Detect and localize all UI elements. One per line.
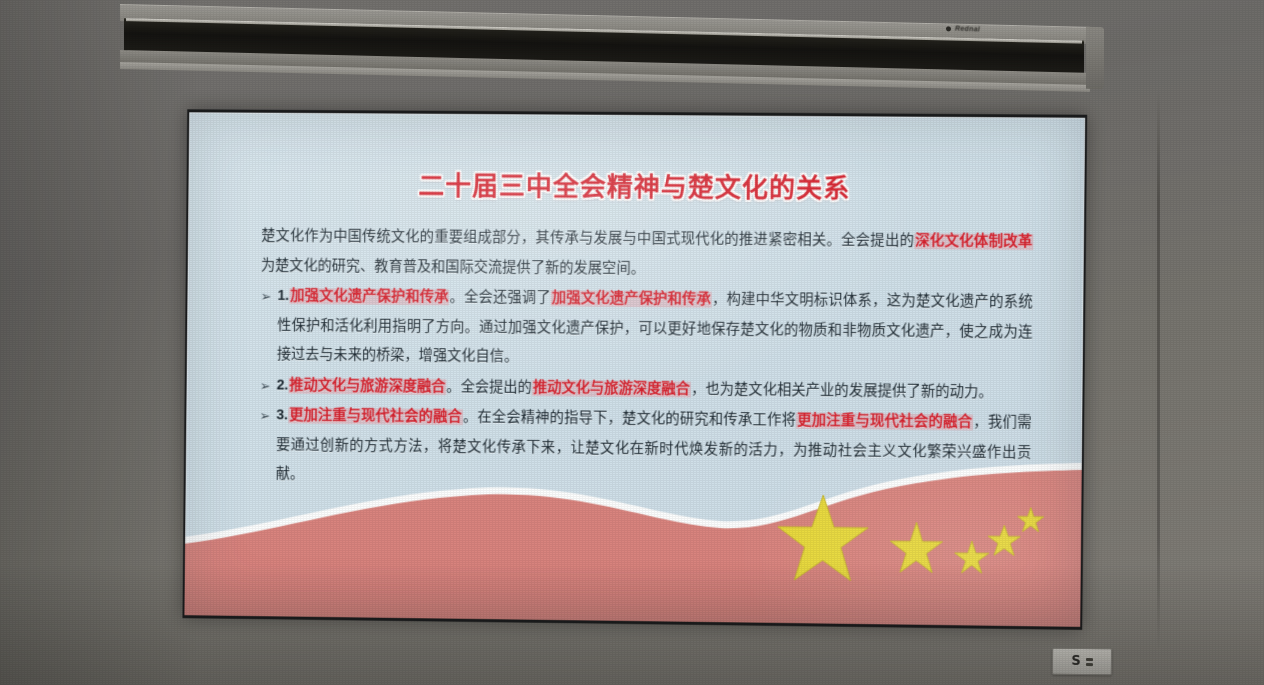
slide-title: 二十届三中全会精神与楚文化的关系 (188, 164, 1084, 207)
item-highlight-2: 推动文化与旅游深度融合 (532, 380, 691, 398)
intro-text-part1: 楚文化作为中国传统文化的重要组成部分，其传承与发展与中国式现代化的推进紧密相关。… (261, 228, 914, 249)
brand-dot-icon (946, 26, 951, 31)
item-heading: 推动文化与旅游深度融合 (288, 377, 446, 395)
arrow-bullet-icon: ➢ (259, 401, 270, 430)
item-highlight-2: 加强文化遗产保护和传承 (551, 290, 713, 307)
item-heading: 更加注重与现代社会的融合 (288, 407, 463, 425)
brand-label: Rednal (955, 26, 980, 34)
projector-screen-housing[interactable]: Rednal (120, 4, 1090, 93)
room-scene: Rednal 二十届三中全会精神与楚文化的关系 楚文化作为中国传统文化的重要组成… (0, 0, 1264, 685)
item-rest: ，也为楚文化相关产业的发展提供了新的动力。 (691, 381, 993, 400)
list-item: ➢ 1.加强文化遗产保护和传承。全会还强调了加强文化遗产保护和传承，构建中华文明… (260, 282, 1033, 378)
arrow-bullet-icon: ➢ (261, 282, 272, 311)
item-after-heading: 。在全会精神的指导下，楚文化的研究和传承工作将 (463, 409, 796, 428)
item-after-heading: 。全会提出的 (446, 379, 532, 396)
intro-highlight: 深化文化体制改革 (914, 233, 1033, 250)
item-number: 3. (276, 407, 288, 423)
item-number: 1. (277, 288, 289, 304)
intro-paragraph: 楚文化作为中国传统文化的重要组成部分，其传承与发展与中国式现代化的推进紧密相关。… (261, 222, 1034, 287)
item-heading: 加强文化遗产保护和传承 (289, 288, 450, 305)
star-5 (1017, 507, 1044, 531)
arrow-bullet-icon: ➢ (260, 371, 271, 400)
slide-canvas: 二十届三中全会精神与楚文化的关系 楚文化作为中国传统文化的重要组成部分，其传承与… (184, 112, 1085, 627)
item-highlight-2: 更加注重与现代社会的融合 (796, 413, 973, 431)
projected-slide: 二十届三中全会精神与楚文化的关系 楚文化作为中国传统文化的重要组成部分，其传承与… (182, 109, 1087, 630)
item-number: 2. (276, 377, 288, 393)
housing-brand-plate: Rednal (946, 25, 980, 33)
star-4 (988, 525, 1021, 556)
item-after-heading: 。全会还强调了 (450, 289, 551, 306)
list-item-text: 1.加强文化遗产保护和传承。全会还强调了加强文化遗产保护和传承，构建中华文明标识… (277, 282, 1033, 377)
intro-text-part2: 为楚文化的研究、教育普及和国际交流提供了新的发展空间。 (261, 257, 645, 276)
wall-shading-bottom (0, 565, 1264, 685)
housing-end-cap (1086, 27, 1104, 89)
